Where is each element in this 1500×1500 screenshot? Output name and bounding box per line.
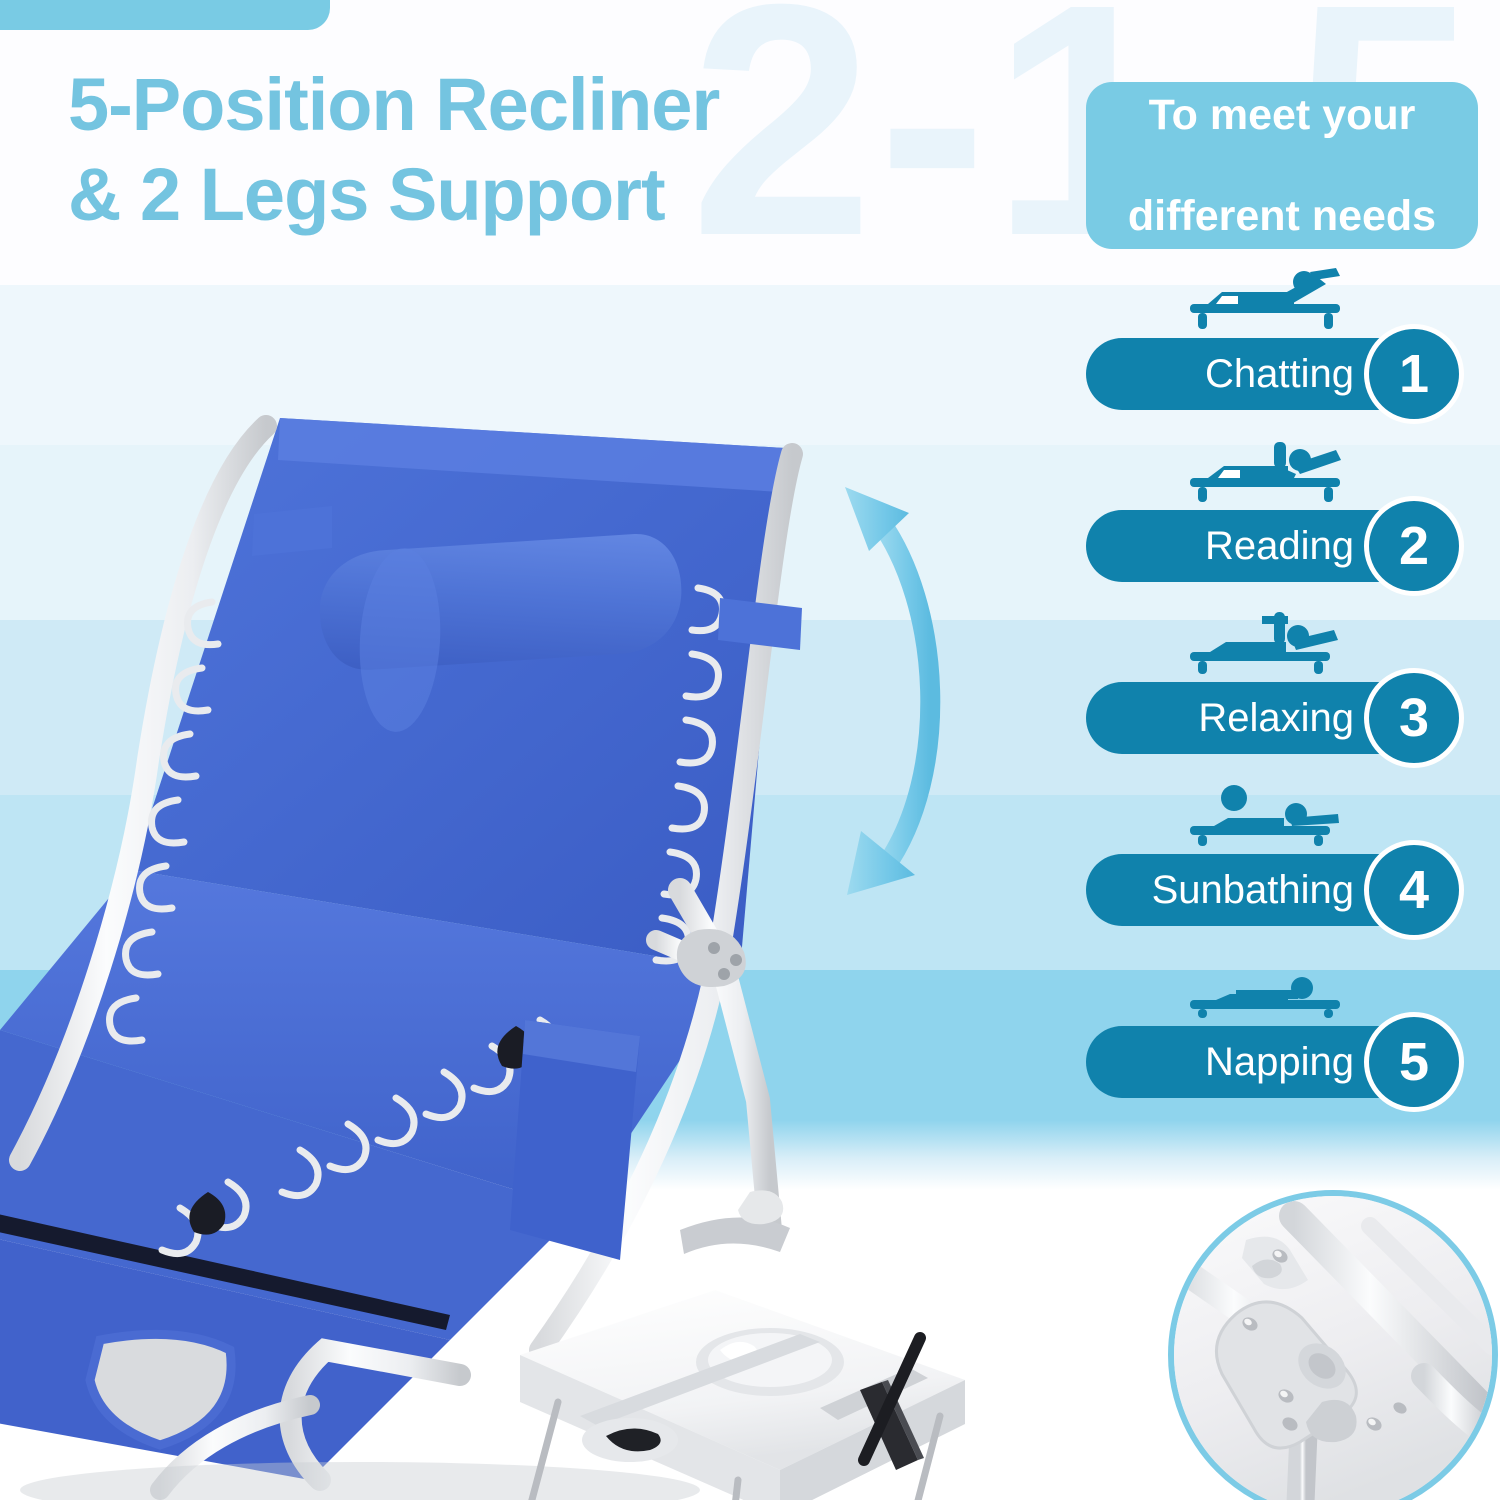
page-title-line-1: 5-Position Recliner (68, 63, 719, 146)
feature-number-badge: 5 (1364, 1012, 1464, 1112)
person-relaxing-on-recliner-icon (1176, 612, 1386, 674)
feature-label: Relaxing (1198, 698, 1354, 738)
hinge-mechanism-closeup-photo (1168, 1190, 1498, 1500)
feature-number: 5 (1399, 1035, 1429, 1089)
feature-item-napping[interactable]: Napping 5 (1086, 956, 1486, 1128)
feature-label: Napping (1205, 1042, 1354, 1082)
feature-number: 1 (1399, 347, 1429, 401)
feature-number-badge: 2 (1364, 496, 1464, 596)
needs-badge-line-2: different needs (1128, 191, 1436, 241)
page-title: 5-Position Recliner & 2 Legs Support (68, 60, 968, 241)
feature-item-reading[interactable]: Reading 2 (1086, 440, 1486, 612)
feature-number-badge: 4 (1364, 840, 1464, 940)
feature-number: 3 (1399, 691, 1429, 745)
person-napping-on-recliner-icon (1176, 956, 1386, 1018)
blue-folding-recliner-chair-with-side-table-photo (0, 330, 1040, 1500)
feature-item-sunbathing[interactable]: Sunbathing 4 (1086, 784, 1486, 956)
feature-label: Sunbathing (1152, 870, 1354, 910)
needs-badge-text: To meet your different needs (1128, 90, 1436, 241)
person-chatting-on-recliner-icon (1176, 268, 1386, 330)
person-sunbathing-on-recliner-icon (1176, 784, 1386, 846)
feature-number: 4 (1399, 863, 1429, 917)
feature-label: Chatting (1205, 354, 1354, 394)
top-left-tab (0, 0, 330, 30)
needs-badge: To meet your different needs (1086, 82, 1478, 249)
feature-item-chatting[interactable]: Chatting 1 (1086, 268, 1486, 440)
feature-number-badge: 1 (1364, 324, 1464, 424)
page-title-line-2: & 2 Legs Support (68, 150, 968, 240)
feature-list: Chatting 1 (1086, 268, 1486, 1128)
person-reading-on-recliner-icon (1176, 440, 1386, 502)
infographic-canvas: 2-1-5 5-Position Recliner & 2 Legs Suppo… (0, 0, 1500, 1500)
feature-number-badge: 3 (1364, 668, 1464, 768)
feature-label: Reading (1205, 526, 1354, 566)
needs-badge-line-1: To meet your (1128, 90, 1436, 140)
feature-number: 2 (1399, 519, 1429, 573)
feature-item-relaxing[interactable]: Relaxing 3 (1086, 612, 1486, 784)
